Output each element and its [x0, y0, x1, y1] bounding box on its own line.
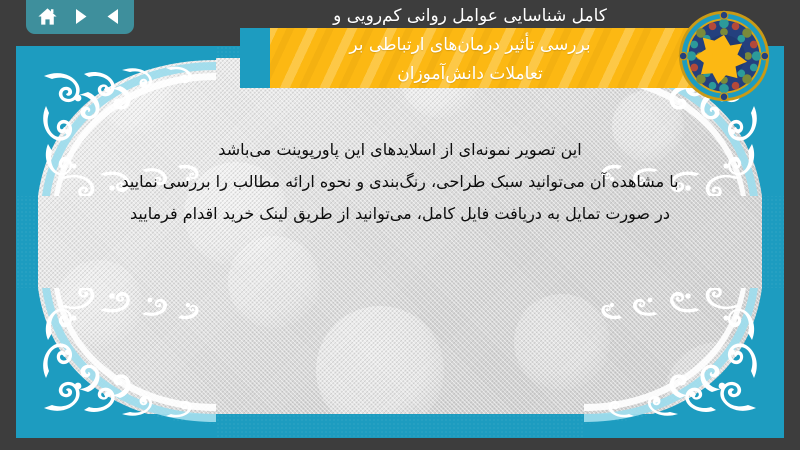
slide-canvas: این تصویر نمونه‌ای از اسلایدهای این پاور… [16, 46, 784, 438]
triangle-right-icon [71, 7, 90, 26]
slide-texture-overlay [16, 46, 784, 438]
bokeh-circle [56, 260, 142, 346]
border-band-right [762, 46, 784, 438]
ornament-medallion-icon [676, 8, 772, 104]
previous-slide-button[interactable] [100, 3, 126, 29]
slide-body-text: این تصویر نمونه‌ای از اسلایدهای این پاور… [60, 134, 740, 230]
border-band-left [16, 46, 38, 438]
home-icon [37, 6, 58, 27]
slide-title: کامل شناسایی عوامل روانی کم‌رویی و بررسی… [270, 2, 670, 89]
border-band-bottom [16, 414, 784, 438]
bokeh-circle [228, 236, 320, 328]
slide-viewer: این تصویر نمونه‌ای از اسلایدهای این پاور… [0, 0, 800, 450]
next-slide-button[interactable] [67, 3, 93, 29]
slide-navigation-bar [26, 0, 134, 34]
body-line-3: در صورت تمایل به دریافت فایل کامل، می‌تو… [60, 198, 740, 230]
title-banner-tab [240, 28, 270, 88]
body-line-2: با مشاهده آن می‌توانید سبک طراحی، رنگ‌بن… [60, 166, 740, 198]
bokeh-circle [514, 294, 610, 390]
bokeh-circle [102, 64, 172, 134]
home-button[interactable] [34, 3, 60, 29]
triangle-left-icon [104, 7, 123, 26]
slide-background [16, 46, 784, 438]
body-line-1: این تصویر نمونه‌ای از اسلایدهای این پاور… [60, 134, 740, 166]
